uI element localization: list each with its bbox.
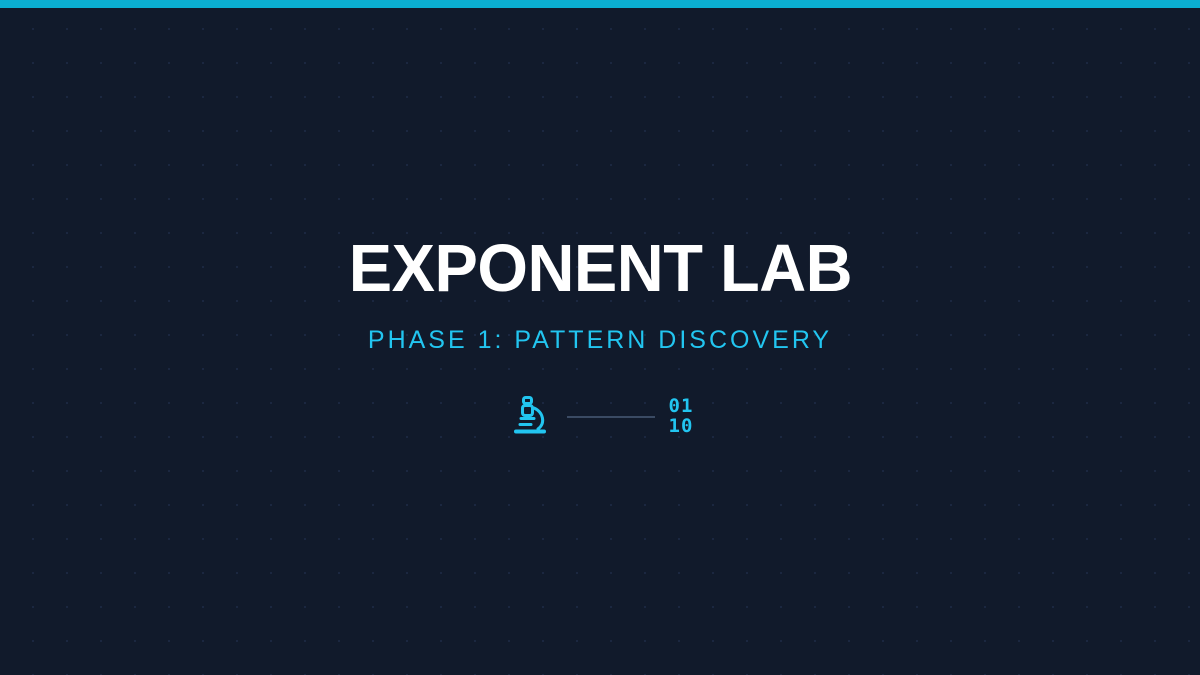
page-subtitle: PHASE 1: PATTERN DISCOVERY <box>368 328 832 353</box>
emblem-row: 01 10 <box>507 394 694 440</box>
slide-content: EXPONENT LAB PHASE 1: PATTERN DISCOVERY … <box>0 0 1200 675</box>
binary-badge: 01 10 <box>669 397 694 437</box>
binary-top-row: 01 <box>669 397 694 417</box>
microscope-icon <box>507 394 553 440</box>
page-title: EXPONENT LAB <box>348 235 851 302</box>
title-slide: EXPONENT LAB PHASE 1: PATTERN DISCOVERY … <box>0 0 1200 675</box>
emblem-divider <box>567 416 655 418</box>
binary-bottom-row: 10 <box>669 417 694 437</box>
